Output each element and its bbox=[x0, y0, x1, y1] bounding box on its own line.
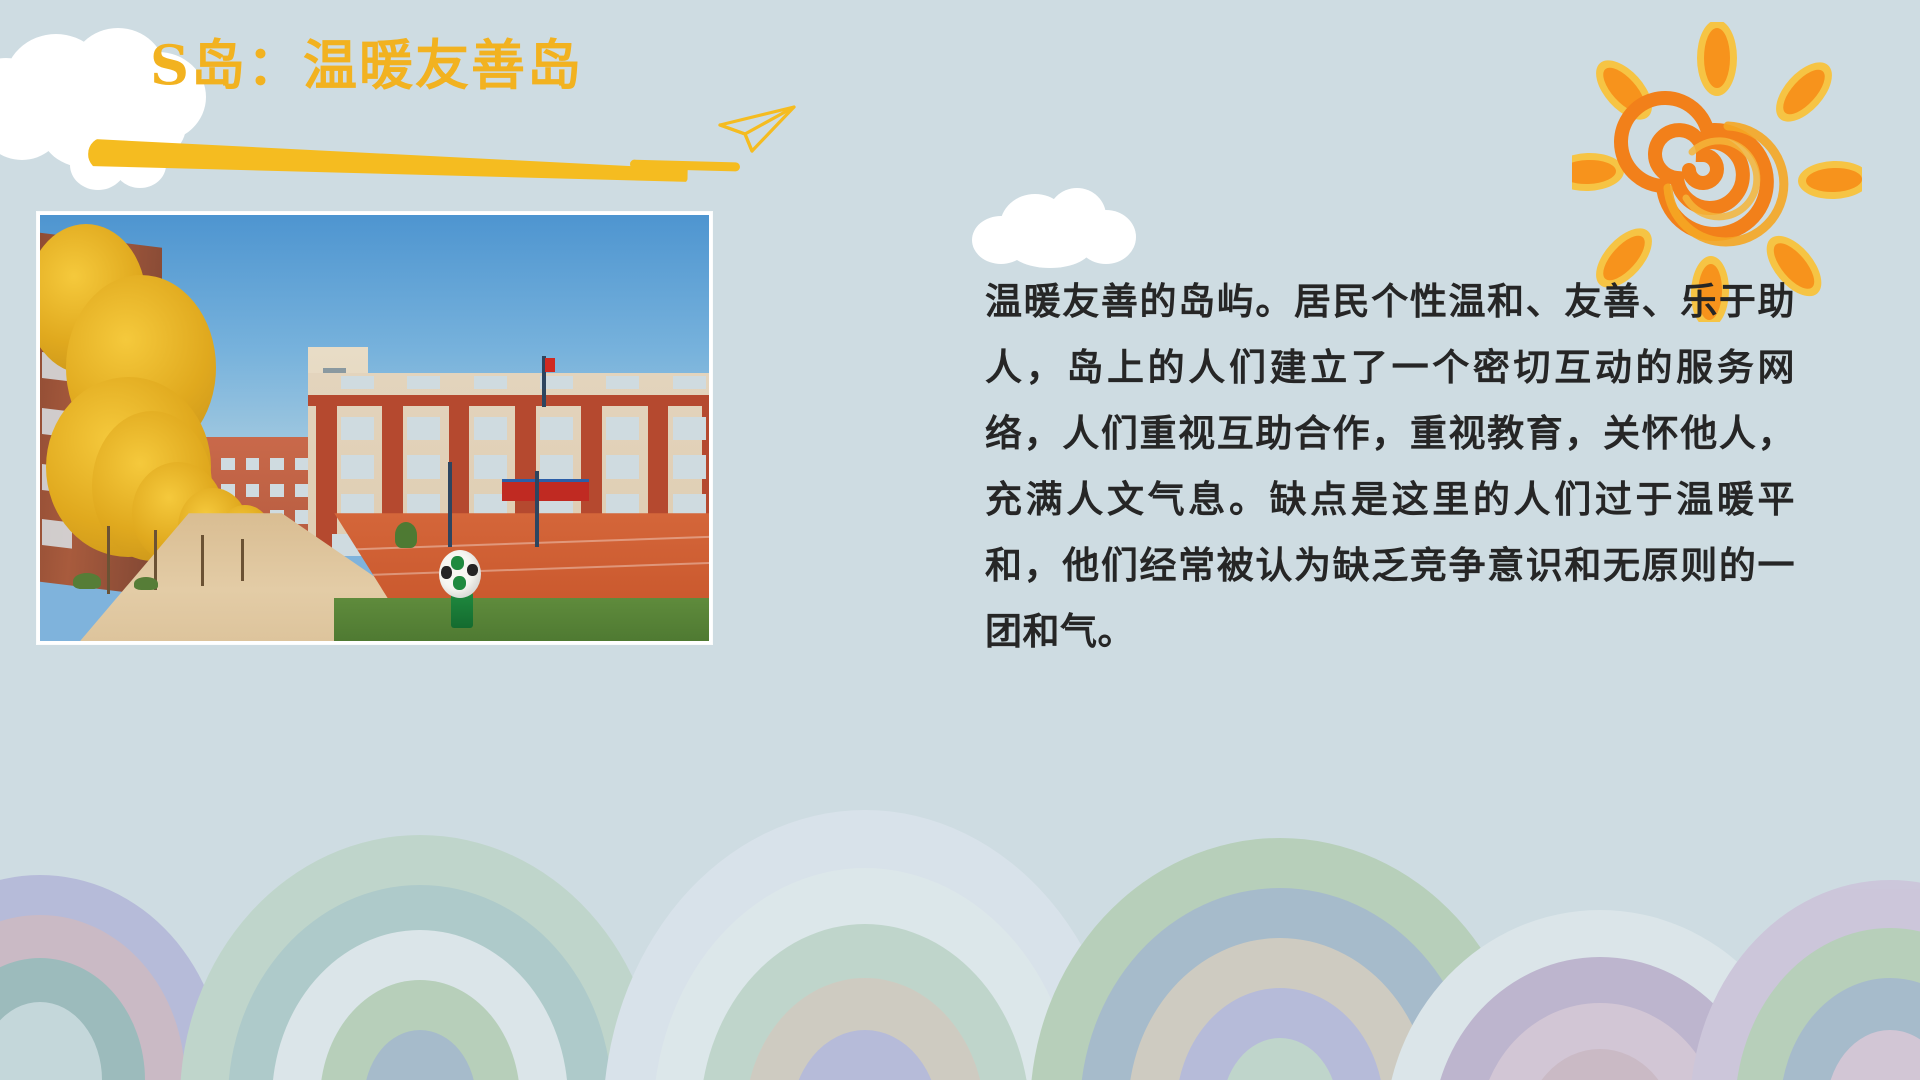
paper-plane-icon bbox=[716, 103, 798, 155]
photo-flag bbox=[545, 358, 555, 372]
campus-photo bbox=[37, 212, 712, 644]
slide-canvas: S岛：温暖友善岛 bbox=[0, 0, 1920, 1080]
body-paragraph: 温暖友善的岛屿。居民个性温和、友善、乐于助人，岛上的人们建立了一个密切互动的服务… bbox=[985, 268, 1795, 664]
campus-photo-image bbox=[40, 215, 709, 641]
photo-field-foreground bbox=[334, 598, 709, 641]
page-title: S岛：温暖友善岛 bbox=[150, 38, 583, 92]
photo-banner bbox=[502, 479, 589, 501]
photo-soccer-ball bbox=[439, 550, 481, 598]
